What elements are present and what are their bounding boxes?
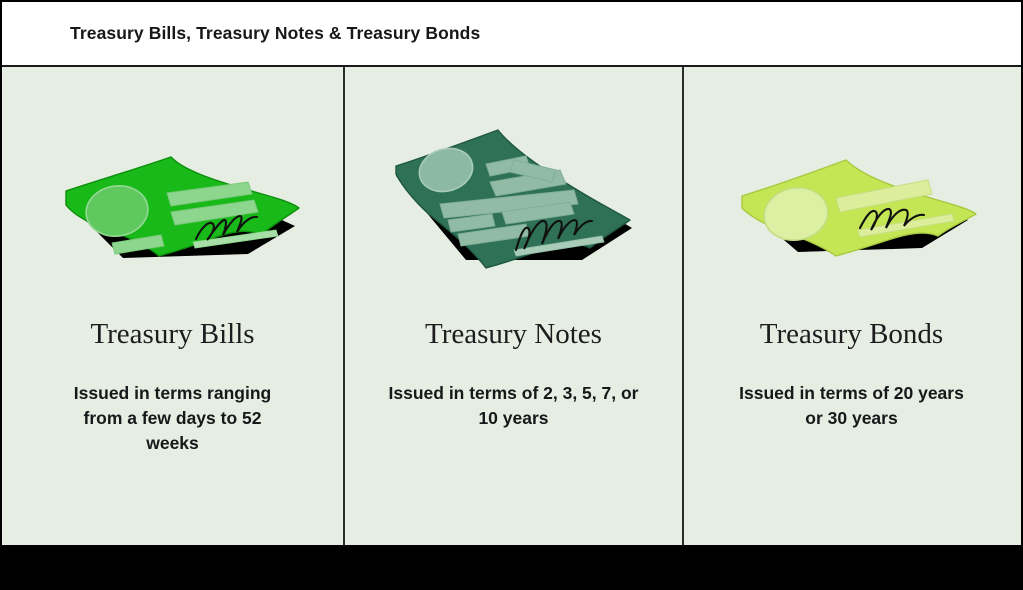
certificate-bright-green-icon — [33, 108, 313, 278]
column-description-bonds: Issued in terms of 20 years or 30 years — [736, 381, 968, 431]
infographic-card: Treasury Bills, Treasury Notes & Treasur… — [0, 0, 1023, 547]
column-description-notes: Issued in terms of 2, 3, 5, 7, or 10 yea… — [384, 381, 644, 431]
certificate-lime-icon — [712, 108, 992, 278]
columns-container: Treasury Bills Issued in terms ranging f… — [2, 67, 1021, 545]
header-bar: Treasury Bills, Treasury Notes & Treasur… — [2, 2, 1021, 67]
column-description-bills: Issued in terms ranging from a few days … — [68, 381, 278, 456]
column-treasury-bonds: Treasury Bonds Issued in terms of 20 yea… — [684, 67, 1019, 545]
illustration-slot-bills — [2, 73, 343, 313]
certificate-dark-green-icon — [374, 108, 654, 278]
illustration-slot-bonds — [684, 73, 1019, 313]
page-title: Treasury Bills, Treasury Notes & Treasur… — [70, 23, 480, 44]
illustration-slot-notes — [345, 73, 682, 313]
footer-black-band — [0, 547, 1023, 590]
column-title-bills: Treasury Bills — [90, 319, 254, 351]
column-treasury-bills: Treasury Bills Issued in terms ranging f… — [2, 67, 343, 545]
column-title-bonds: Treasury Bonds — [760, 319, 943, 351]
column-treasury-notes: Treasury Notes Issued in terms of 2, 3, … — [343, 67, 684, 545]
column-title-notes: Treasury Notes — [425, 319, 602, 351]
